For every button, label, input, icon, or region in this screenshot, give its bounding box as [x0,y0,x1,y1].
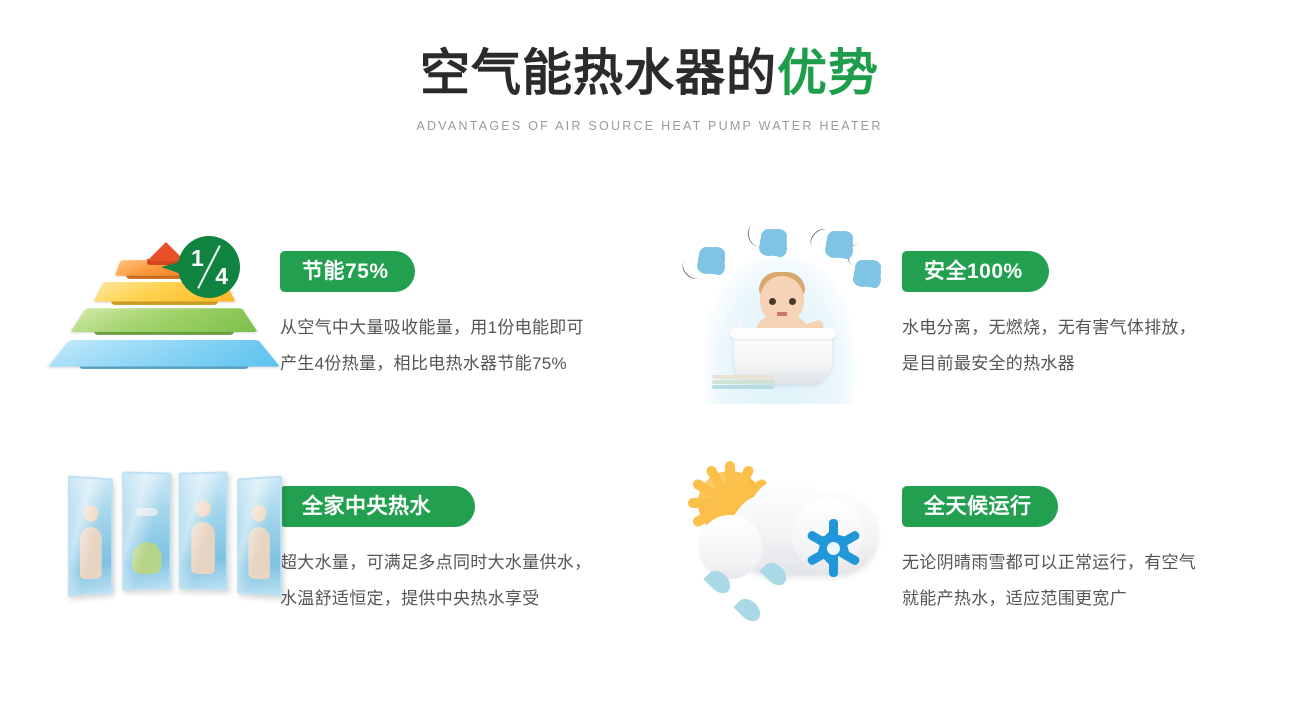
feature-desc-line2-central-hot-water: 水温舒适恒定，提供中央热水享受 [280,581,660,617]
feature-desc-line1-energy-saving: 从空气中大量吸收能量，用1份电能即可 [280,310,660,346]
snowflake-icon [804,519,862,577]
baby-bathtub-icon [672,214,902,404]
energy-pyramid-icon: 1 4 [50,214,280,404]
feature-card-all-weather: 全天候运行 无论阴晴雨雪都可以正常运行，有空气 就能产热水，适应范围更宽广 [672,449,1282,664]
shower-panels-icon [50,449,280,639]
feature-desc-line2-energy-saving: 产生4份热量，相比电热水器节能75% [280,346,660,382]
feature-card-energy-saving: 1 4 节能75% 从空气中大量吸收能量，用1份电能即可 产生4份热量，相比电热… [50,214,660,429]
slide-root: 空气能热水器的优势 ADVANTAGES OF AIR SOURCE HEAT … [0,0,1299,722]
ratio-denominator: 4 [215,265,228,288]
hazard-splat-3-icon [826,231,853,258]
feature-desc-line1-all-weather: 无论阴晴雨雪都可以正常运行，有空气 [902,545,1282,581]
feature-desc-line1-safety: 水电分离，无燃烧，无有害气体排放， [902,310,1282,346]
bathtub-rim [730,328,836,339]
page-title: 空气能热水器的优势 [0,46,1299,100]
weather-all-season-icon [672,449,902,639]
page-title-accent: 优势 [777,45,879,101]
feature-pill-safety: 安全100% [902,251,1049,292]
glass-panel-2 [122,471,171,590]
hazard-splat-4-icon [854,260,881,287]
page-title-main: 空气能热水器的 [420,45,777,101]
baby-eye-right [789,298,796,305]
glass-panel-1 [68,475,113,596]
feature-desc-line2-all-weather: 就能产热水，适应范围更宽广 [902,581,1282,617]
page-header: 空气能热水器的优势 ADVANTAGES OF AIR SOURCE HEAT … [0,46,1299,133]
baby-eye-left [769,298,776,305]
feature-card-safety: 安全100% 水电分离，无燃烧，无有害气体排放， 是目前最安全的热水器 [672,214,1282,429]
glass-panel-3 [179,471,228,590]
ratio-badge: 1 4 [178,236,240,298]
hazard-splat-1-icon [698,247,725,274]
ratio-numerator: 1 [191,247,204,270]
cloud-puff-left [698,515,762,579]
feature-desc-line1-central-hot-water: 超大水量，可满足多点同时大水量供水， [280,545,660,581]
feature-card-central-hot-water: 全家中央热水 超大水量，可满足多点同时大水量供水， 水温舒适恒定，提供中央热水享… [50,449,660,664]
feature-grid: 1 4 节能75% 从空气中大量吸收能量，用1份电能即可 产生4份热量，相比电热… [0,214,1299,684]
feature-body-central-hot-water: 全家中央热水 超大水量，可满足多点同时大水量供水， 水温舒适恒定，提供中央热水享… [280,449,660,617]
glass-panel-4 [237,475,282,596]
hazard-splat-2-icon [760,229,787,256]
raindrop-3-icon [733,594,764,625]
feature-body-all-weather: 全天候运行 无论阴晴雨雪都可以正常运行，有空气 就能产热水，适应范围更宽广 [902,449,1282,617]
feature-body-safety: 安全100% 水电分离，无燃烧，无有害气体排放， 是目前最安全的热水器 [902,214,1282,382]
feature-pill-energy-saving: 节能75% [280,251,415,292]
folded-towels [712,375,774,391]
page-subtitle: ADVANTAGES OF AIR SOURCE HEAT PUMP WATER… [0,119,1299,133]
feature-pill-all-weather: 全天候运行 [902,486,1058,527]
feature-desc-line2-safety: 是目前最安全的热水器 [902,346,1282,382]
feature-body-energy-saving: 节能75% 从空气中大量吸收能量，用1份电能即可 产生4份热量，相比电热水器节能… [280,214,660,382]
feature-pill-central-hot-water: 全家中央热水 [280,486,475,527]
